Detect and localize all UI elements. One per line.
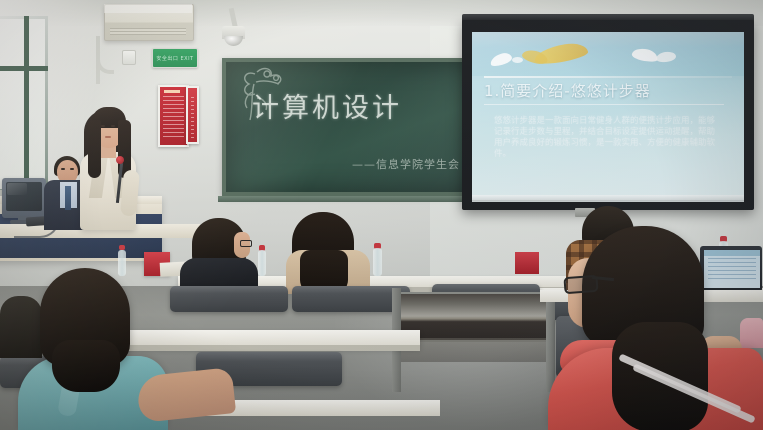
- air-conditioner-highlight: [104, 4, 192, 13]
- slide-body-text: 悠悠计步器是一款面向日常健身人群的便携计步应用，能够记录行走步数与里程，并结合目…: [494, 116, 722, 160]
- presenter-eye-left: [101, 125, 105, 127]
- presenter-hair-left: [88, 120, 101, 178]
- monitor-glare: [7, 183, 27, 195]
- student-teal-top-hair-lower: [52, 340, 120, 392]
- projection-screen-bottom-edge: [472, 195, 744, 202]
- poster-text-lines: [191, 97, 194, 141]
- chair-back[interactable]: [170, 286, 288, 312]
- laptop-document-lines: [708, 258, 756, 282]
- classroom-presentation-photo: 安全出口 EXIT 计算机设计 ——信息学院学生会: [0, 0, 763, 430]
- seated-host-tie: [65, 186, 71, 210]
- foreground-silhouette: [0, 296, 42, 358]
- slide-title-underline: [484, 104, 724, 105]
- window-mullion-vertical: [24, 16, 29, 192]
- chalk-tray: [218, 196, 480, 202]
- water-bottle[interactable]: [373, 248, 382, 276]
- red-notice-poster: [158, 85, 189, 147]
- window-mullion-horizontal: [0, 66, 48, 71]
- seated-host-eye-right: [70, 168, 74, 170]
- presenter-eye-right: [111, 125, 115, 127]
- water-bottle[interactable]: [258, 250, 266, 276]
- poster-heading-bar: [164, 90, 180, 93]
- presenter-mouth: [105, 136, 111, 138]
- pink-object: [740, 318, 763, 348]
- blackboard-title: 计算机设计: [252, 86, 482, 125]
- red-notebook[interactable]: [515, 252, 539, 274]
- water-bottle[interactable]: [118, 250, 126, 276]
- slide-header-band: [472, 32, 744, 76]
- desk-leg: [546, 292, 555, 392]
- microphone-icon[interactable]: [116, 156, 124, 164]
- exit-sign-label: 安全出口 EXIT: [156, 55, 193, 62]
- air-conditioner-pipe-lower: [96, 58, 100, 84]
- slide-title: 1.简要介绍-悠悠计步器: [484, 80, 734, 101]
- wall-switch-box[interactable]: [122, 50, 136, 65]
- slide-divider: [484, 76, 732, 78]
- red-notice-poster-secondary: [186, 86, 199, 144]
- laptop-document-header: [704, 250, 760, 256]
- poster-text-lines: [163, 96, 184, 140]
- emergency-exit-sign: 安全出口 EXIT: [152, 48, 198, 68]
- seated-host-eye-left: [61, 168, 65, 170]
- air-conditioner-vent: [110, 28, 186, 35]
- student-glasses-icon: [240, 240, 252, 247]
- petal-decoration-dot-icon: [512, 57, 523, 63]
- projection-screen[interactable]: 1.简要介绍-悠悠计步器 悠悠计步器是一款面向日常健身人群的便携计步应用，能够记…: [472, 32, 744, 200]
